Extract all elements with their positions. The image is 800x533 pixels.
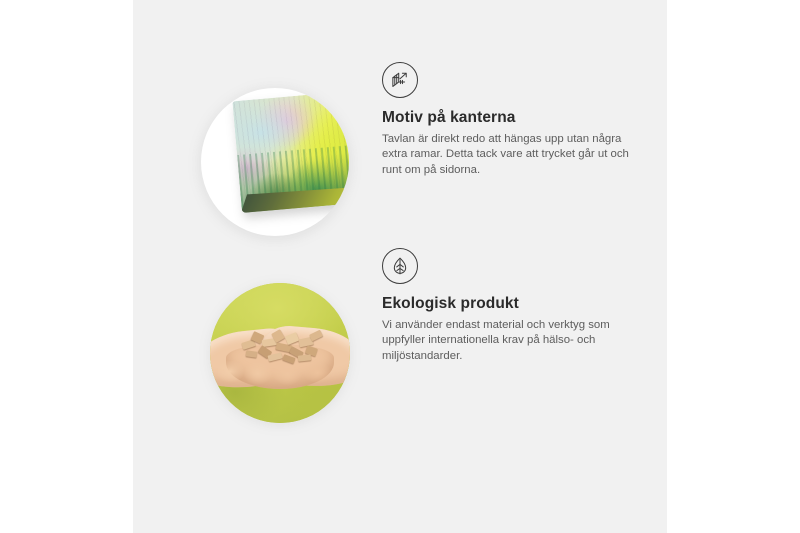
canvas-block <box>232 91 349 213</box>
canvas-edge-print-icon <box>382 62 418 98</box>
canvas-print-corner-photo <box>201 88 349 236</box>
canvas-edge-print-glyph <box>389 69 411 91</box>
content-panel: Motiv på kanterna Tavlan är direkt redo … <box>133 0 667 533</box>
fingers <box>218 361 342 387</box>
feature-row-eco: Ekologisk produkt Vi använder endast mat… <box>133 248 667 448</box>
promo-panel: Motiv på kanterna Tavlan är direkt redo … <box>0 0 800 533</box>
feature-body: Vi använder endast material och verktyg … <box>382 318 632 365</box>
wood-chips <box>238 327 328 363</box>
leaf-glyph <box>389 255 411 277</box>
feature-row-edges: Motiv på kanterna Tavlan är direkt redo … <box>133 62 667 262</box>
leaf-icon <box>382 248 418 284</box>
feature-body: Tavlan är direkt redo att hängas upp uta… <box>382 132 632 179</box>
feature-title: Ekologisk produkt <box>382 295 660 314</box>
feature-text-eco: Ekologisk produkt Vi använder endast mat… <box>382 248 660 365</box>
feature-title: Motiv på kanterna <box>382 109 660 128</box>
canvas-artwork <box>201 88 349 236</box>
hands-holding-wood-chips-photo <box>210 283 350 423</box>
feature-text-edges: Motiv på kanterna Tavlan är direkt redo … <box>382 62 660 179</box>
